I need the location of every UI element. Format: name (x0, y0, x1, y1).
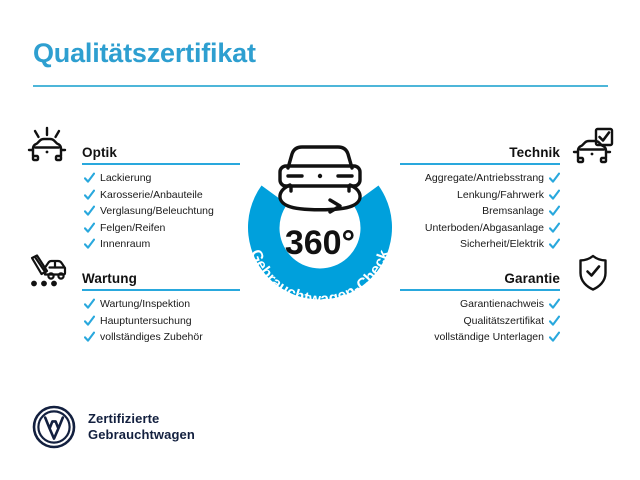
check-icon (84, 238, 95, 250)
section-divider (82, 289, 240, 291)
list-item-label: Aggregate/Antriebsstrang (425, 170, 544, 187)
list-item-label: vollständige Unterlagen (434, 329, 544, 346)
list-item-label: Hauptuntersuchung (100, 313, 192, 330)
check-icon (84, 172, 95, 184)
section-header-optik: Optik (22, 130, 242, 170)
section-divider (400, 289, 560, 291)
list-item: vollständige Unterlagen (398, 329, 560, 346)
check-icon (84, 298, 95, 310)
volkswagen-footer: Zertifizierte Gebrauchtwagen (32, 405, 195, 449)
list-item-label: Karosserie/Anbauteile (100, 187, 203, 204)
check-icon (84, 222, 95, 234)
list-item-label: Unterboden/Abgasanlage (425, 220, 544, 237)
list-item: Verglasung/Beleuchtung (84, 203, 242, 220)
list-item: Hauptuntersuchung (84, 313, 242, 330)
list-item: Karosserie/Anbauteile (84, 187, 242, 204)
check-icon (84, 205, 95, 217)
list-item-label: Garantienachweis (460, 296, 544, 313)
check-icon (549, 222, 560, 234)
page-title: Qualitätszertifikat (33, 38, 256, 69)
check-icon (549, 172, 560, 184)
list-item-label: Bremsanlage (482, 203, 544, 220)
check-icon (84, 189, 95, 201)
car-polish-icon (24, 126, 70, 168)
car-rotating-icon (280, 147, 360, 212)
list-item: Garantienachweis (398, 296, 560, 313)
list-item: Aggregate/Antriebsstrang (398, 170, 560, 187)
volkswagen-wordmark: Zertifizierte Gebrauchtwagen (88, 411, 195, 443)
list-item: Qualitätszertifikat (398, 313, 560, 330)
car-service-record-icon (24, 252, 70, 294)
list-item-label: Felgen/Reifen (100, 220, 165, 237)
section-wartung: Wartung Wartung/Inspektion Hauptuntersuc… (22, 256, 242, 346)
list-item: Innenraum (84, 236, 242, 253)
list-item-label: Innenraum (100, 236, 150, 253)
section-title: Technik (509, 145, 560, 160)
section-divider (82, 163, 240, 165)
checklist-technik: Aggregate/Antriebsstrang Lenkung/Fahrwer… (398, 170, 560, 253)
check-icon (549, 238, 560, 250)
section-header-garantie: Garantie (398, 256, 618, 296)
list-item: Lenkung/Fahrwerk (398, 187, 560, 204)
volkswagen-logo (32, 405, 76, 449)
check-icon (84, 315, 95, 327)
section-divider (400, 163, 560, 165)
section-header-wartung: Wartung (22, 256, 242, 296)
list-item: Lackierung (84, 170, 242, 187)
checklist-optik: Lackierung Karosserie/Anbauteile Verglas… (84, 170, 242, 253)
list-item-label: Qualitätszertifikat (463, 313, 544, 330)
list-item-label: Sicherheit/Elektrik (460, 236, 544, 253)
section-title: Garantie (504, 271, 560, 286)
list-item-label: Verglasung/Beleuchtung (100, 203, 214, 220)
certificate-page: Qualitätszertifikat (0, 0, 640, 480)
list-item-label: Lackierung (100, 170, 151, 187)
list-item-label: Lenkung/Fahrwerk (457, 187, 544, 204)
checklist-garantie: Garantienachweis Qualitätszertifikat vol… (398, 296, 560, 346)
check-icon (549, 189, 560, 201)
checklist-wartung: Wartung/Inspektion Hauptuntersuchung vol… (84, 296, 242, 346)
list-item: vollständiges Zubehör (84, 329, 242, 346)
title-divider (33, 85, 608, 87)
section-header-technik: Technik (398, 130, 618, 170)
section-garantie: Garantie Garantienachweis Qualitätszerti… (398, 256, 618, 346)
check-icon (84, 331, 95, 343)
list-item: Wartung/Inspektion (84, 296, 242, 313)
shield-check-icon (570, 252, 616, 294)
list-item: Unterboden/Abgasanlage (398, 220, 560, 237)
badge-center-label: 360° (285, 224, 355, 262)
section-optik: Optik Lackierung Karosserie/Anbauteile V… (22, 130, 242, 253)
check-icon (549, 205, 560, 217)
list-item-label: vollständiges Zubehör (100, 329, 203, 346)
car-checkbox-icon (570, 126, 616, 168)
section-technik: Technik Aggregate/Antriebsstrang Lenkung… (398, 130, 618, 253)
footer-line-2: Gebrauchtwagen (88, 427, 195, 443)
list-item: Bremsanlage (398, 203, 560, 220)
check-icon (549, 331, 560, 343)
badge-360-gebrauchtwagen-check: 360° Gebrauchtwagen-Check (228, 128, 412, 320)
check-icon (549, 315, 560, 327)
check-icon (549, 298, 560, 310)
footer-line-1: Zertifizierte (88, 411, 195, 427)
list-item: Sicherheit/Elektrik (398, 236, 560, 253)
section-title: Wartung (82, 271, 137, 286)
list-item: Felgen/Reifen (84, 220, 242, 237)
list-item-label: Wartung/Inspektion (100, 296, 190, 313)
section-title: Optik (82, 145, 117, 160)
